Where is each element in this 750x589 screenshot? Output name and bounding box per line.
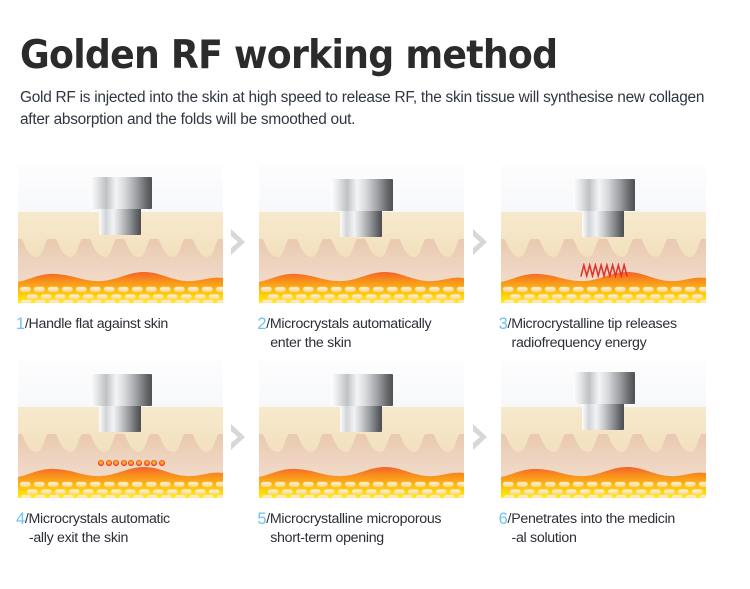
illustration-penetrates-medicinal-solution xyxy=(501,360,706,498)
step-cell-4: 4/Microcrystals automatic-ally exit the … xyxy=(14,360,255,555)
micro-dot xyxy=(136,460,142,466)
microneedles xyxy=(340,432,395,456)
step-number: 6 xyxy=(499,510,508,529)
fat-layer xyxy=(501,464,706,498)
fat-layer xyxy=(259,269,464,303)
fat-layer xyxy=(18,269,223,303)
rf-handpiece-device xyxy=(331,179,393,237)
device-tip xyxy=(582,211,624,237)
fat-layer xyxy=(259,464,464,498)
step-text: /Microcrystals automatic-ally exit the s… xyxy=(25,510,170,548)
device-body xyxy=(573,372,635,404)
step-text: /Microcrystals automaticallyenter the sk… xyxy=(266,315,431,353)
micro-dot xyxy=(113,460,119,466)
device-tip xyxy=(340,406,382,432)
step-cell-6: 6/Penetrates into the medicin-al solutio… xyxy=(497,360,738,555)
device-body xyxy=(573,179,635,211)
step-number: 1 xyxy=(16,315,25,334)
device-tip xyxy=(99,406,141,432)
page-subtitle: Gold RF is injected into the skin at hig… xyxy=(20,87,720,132)
device-body xyxy=(90,374,152,406)
step-arrow-chevron-icon xyxy=(227,422,249,452)
micro-dot xyxy=(159,460,165,466)
step-caption-1: 1/Handle flat against skin xyxy=(16,315,241,334)
step-number: 5 xyxy=(257,510,266,529)
step-number: 2 xyxy=(257,315,266,334)
step-caption-4: 4/Microcrystals automatic-ally exit the … xyxy=(16,510,241,548)
illustration-microcrystals-enter-skin xyxy=(259,165,464,303)
rf-handpiece-device xyxy=(90,177,152,235)
device-tip xyxy=(582,404,624,430)
step-arrow-chevron-icon xyxy=(227,227,249,257)
step-caption-3: 3/Microcrystalline tip releasesradiofreq… xyxy=(499,315,724,353)
rf-handpiece-device xyxy=(573,179,635,237)
step-cell-1: 1/Handle flat against skin xyxy=(14,165,255,360)
step-cell-3: 3/Microcrystalline tip releasesradiofreq… xyxy=(497,165,738,360)
device-body xyxy=(331,179,393,211)
step-caption-2: 2/Microcrystals automaticallyenter the s… xyxy=(257,315,482,353)
device-tip xyxy=(99,209,141,235)
micro-dot xyxy=(121,460,127,466)
infographic-page: Golden RF working method Gold RF is inje… xyxy=(0,0,750,589)
rf-handpiece-device xyxy=(331,374,393,432)
step-number: 4 xyxy=(16,510,25,529)
step-arrow-chevron-icon xyxy=(469,422,491,452)
microneedles xyxy=(99,432,154,462)
illustration-microcrystals-exit-skin xyxy=(18,360,223,498)
step-cell-5: 5/Microcrystalline microporousshort-term… xyxy=(255,360,496,555)
device-tip xyxy=(340,211,382,237)
page-title: Golden RF working method xyxy=(20,36,680,75)
step-text: /Microcrystalline tip releasesradiofrequ… xyxy=(508,315,677,353)
micro-dot xyxy=(144,460,150,466)
step-text: /Handle flat against skin xyxy=(25,315,168,334)
step-text: /Microcrystalline microporousshort-term … xyxy=(266,510,441,548)
rf-handpiece-device xyxy=(90,374,152,432)
radiofrequency-wave xyxy=(579,263,629,278)
illustration-microporous-short-term-opening xyxy=(259,360,464,498)
fat-layer xyxy=(18,464,223,498)
illustration-tip-releases-rf-energy xyxy=(501,165,706,303)
step-text: /Penetrates into the medicin-al solution xyxy=(508,510,675,548)
steps-grid: 1/Handle flat against skin xyxy=(14,165,738,555)
header: Golden RF working method Gold RF is inje… xyxy=(20,36,730,132)
step-number: 3 xyxy=(499,315,508,334)
micro-dot xyxy=(151,460,157,466)
step-arrow-chevron-icon xyxy=(469,227,491,257)
step-caption-5: 5/Microcrystalline microporousshort-term… xyxy=(257,510,482,548)
illustration-handle-flat-against-skin xyxy=(18,165,223,303)
microneedles xyxy=(582,237,637,265)
device-body xyxy=(90,177,152,209)
micro-dot xyxy=(128,460,134,466)
micro-dot xyxy=(106,460,112,466)
device-body xyxy=(331,374,393,406)
step-caption-6: 6/Penetrates into the medicin-al solutio… xyxy=(499,510,724,548)
micro-channel-dots xyxy=(98,460,165,466)
rf-handpiece-device xyxy=(573,372,635,430)
step-cell-2: 2/Microcrystals automaticallyenter the s… xyxy=(255,165,496,360)
micro-dot xyxy=(98,460,104,466)
microneedles xyxy=(340,237,395,271)
